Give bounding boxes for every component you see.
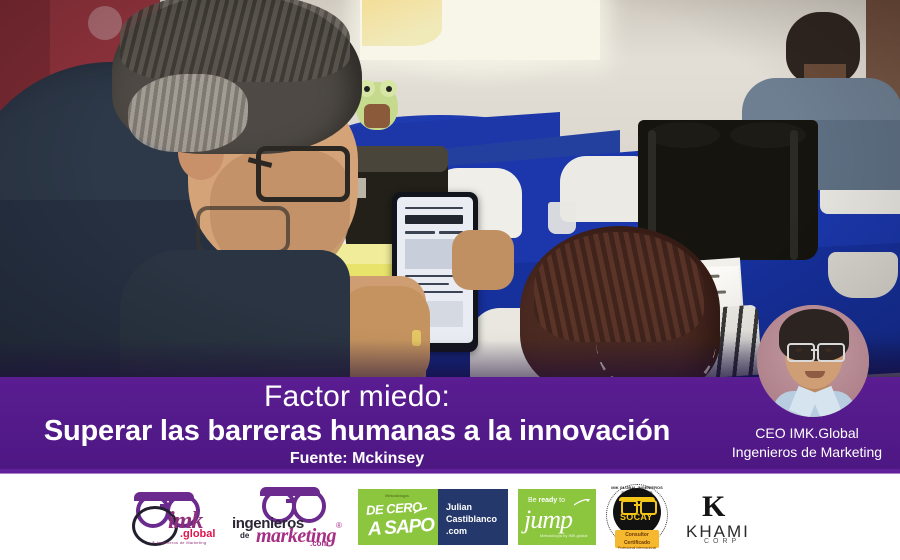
jc-line3: .com: [446, 525, 497, 537]
seal-brand: SOCAY: [620, 512, 653, 522]
page-subtitle: Superar las barreras humanas a la innova…: [44, 414, 670, 448]
socay-certified-seal[interactable]: IMK GLOBAL INGENIEROS DE MARKETING SOCAY…: [604, 484, 670, 550]
jump-tagline-b: ready: [539, 497, 560, 504]
sapo-line2: A SAPO: [367, 515, 435, 542]
seal-band-line3: Profesional internacional: [615, 546, 659, 550]
avatar-glasses-left: [787, 343, 815, 362]
im-glasses-bridge-icon: [286, 499, 294, 503]
seal-band-line1: Consultor: [615, 530, 659, 538]
khami-monogram: K: [702, 490, 723, 524]
jc-line2: Castiblanco: [446, 513, 497, 525]
be-ready-to-jump-logo[interactable]: Be ready to jump Metodología by IMK.glob…: [518, 489, 596, 545]
im-domain: .com: [310, 539, 329, 548]
speaker-caption-line2: Ingenieros de Marketing: [714, 443, 900, 462]
seal-band-line2: Certificado: [615, 538, 659, 546]
page-title: Factor miedo:: [264, 380, 450, 414]
avatar-glasses-right: [817, 343, 845, 362]
speaker-caption: CEO IMK.Global Ingenieros de Marketing: [714, 424, 900, 462]
imk-global-logo[interactable]: imk .global ® Ingenieros de Marketing: [128, 488, 228, 546]
jc-wordmark: Julian Castiblanco .com: [446, 501, 497, 537]
frog-tongue-icon: [414, 507, 428, 517]
avatar-glasses-bridge: [811, 349, 818, 351]
jump-tagline-c: to: [559, 497, 565, 504]
logo-strip: imk .global ® Ingenieros de Marketing in…: [0, 474, 900, 560]
speaker-caption-line1: CEO IMK.Global: [714, 424, 900, 443]
im-registered-mark: ®: [336, 521, 342, 530]
jump-sub: Metodología by IMK.global: [540, 533, 587, 538]
jump-arrow-icon: [574, 499, 590, 507]
glasses-top-bar-icon: [134, 492, 194, 501]
julian-castiblanco-logo[interactable]: Julian Castiblanco .com: [438, 489, 508, 545]
title-block: Factor miedo: Superar las barreras human…: [0, 377, 714, 473]
seal-glasses-bridge-icon: [634, 504, 640, 506]
imk-slogan: ® Ingenieros de Marketing: [152, 540, 206, 545]
imk-domain: .global: [180, 528, 215, 540]
jump-tagline: Be ready to: [528, 497, 565, 504]
jump-wordmark: jump: [524, 505, 572, 535]
ingenieros-de-marketing-logo[interactable]: ingenieros de marketing .com ®: [232, 487, 350, 547]
slide-root: Factor miedo: Superar las barreras human…: [0, 0, 900, 560]
khami-corp-label: CORP: [704, 538, 740, 545]
sapo-method-label: Metodología: [372, 493, 422, 499]
de-cero-a-sapo-logo[interactable]: Metodología DE CERO A SAPO: [358, 489, 438, 545]
khami-corp-logo[interactable]: K KHAMI CORP: [680, 488, 772, 546]
seal-band: Consultor Certificado Profesional intern…: [615, 530, 659, 548]
avatar: [757, 305, 869, 417]
im-wordmark-de: de: [240, 531, 249, 540]
source-label: Fuente: Mckinsey: [290, 449, 424, 469]
jump-tagline-a: Be: [528, 497, 539, 504]
jc-line1: Julian: [446, 501, 497, 513]
im-glasses-top-bar-icon: [260, 487, 320, 496]
